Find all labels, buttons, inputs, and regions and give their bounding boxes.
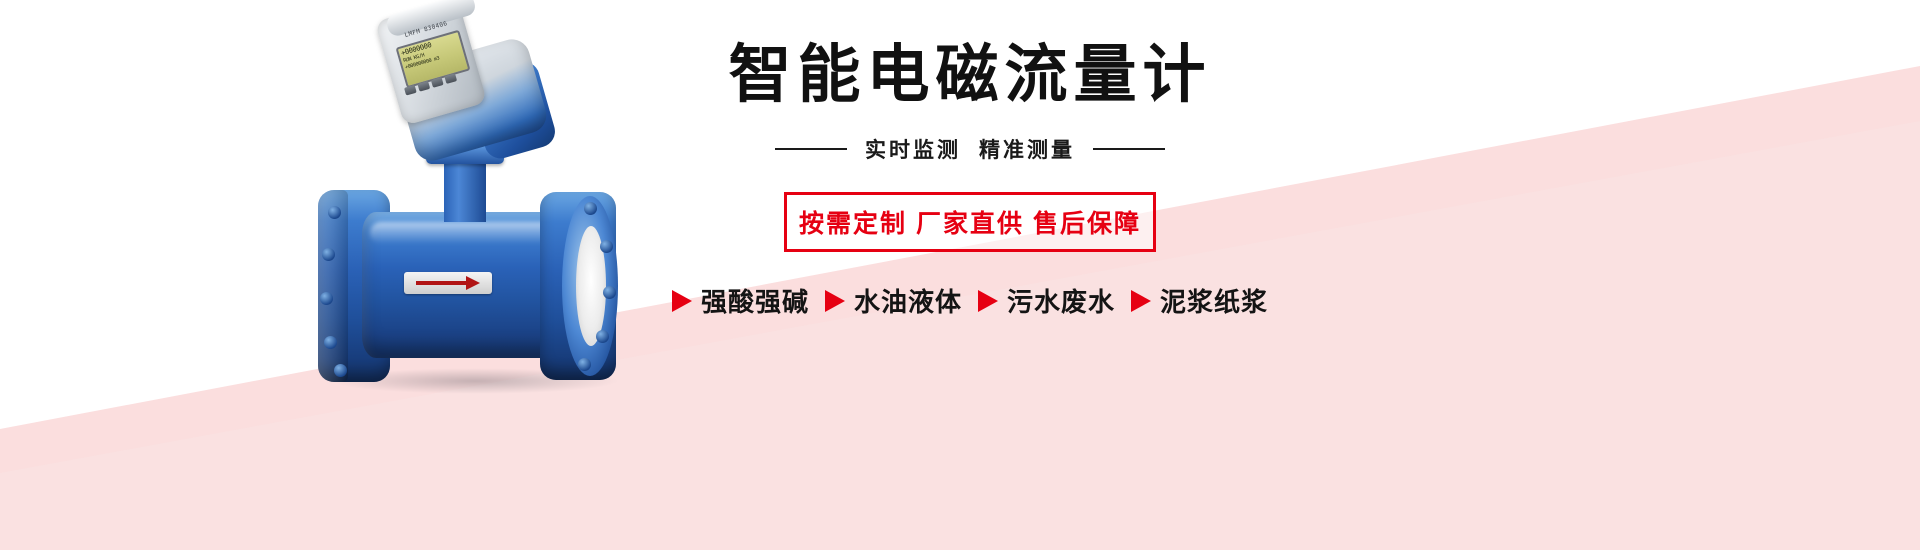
promo-box: 按需定制 厂家直供 售后保障 bbox=[784, 192, 1156, 252]
flow-direction-arrow-icon bbox=[404, 272, 492, 294]
bolt bbox=[334, 364, 347, 377]
bolt bbox=[324, 336, 337, 349]
bolt bbox=[320, 292, 333, 305]
feature-label: 泥浆纸浆 bbox=[1160, 282, 1268, 319]
bolt bbox=[603, 286, 616, 299]
feature-label: 污水废水 bbox=[1007, 282, 1115, 319]
meter-body-highlight bbox=[370, 222, 564, 244]
feature-item: 泥浆纸浆 bbox=[1131, 282, 1268, 319]
bolt bbox=[578, 358, 591, 371]
divider-right bbox=[1093, 148, 1165, 150]
feature-label: 强酸强碱 bbox=[701, 282, 809, 319]
bolt bbox=[596, 330, 609, 343]
triangle-right-icon bbox=[825, 290, 845, 312]
feature-item: 水油液体 bbox=[825, 282, 962, 319]
subtitle-row: 实时监测 精准测量 bbox=[660, 134, 1280, 164]
product-image: LMFM 830406 +0000000 RUN KG/H +000000000… bbox=[300, 0, 680, 460]
bolt bbox=[584, 202, 597, 215]
bolt bbox=[322, 248, 335, 261]
page-title: 智能电磁流量计 bbox=[660, 42, 1280, 108]
bolt bbox=[600, 240, 613, 253]
subtitle-right: 精准测量 bbox=[979, 134, 1075, 164]
bolt bbox=[328, 206, 341, 219]
triangle-right-icon bbox=[672, 290, 692, 312]
feature-item: 强酸强碱 bbox=[672, 282, 809, 319]
subtitle-left: 实时监测 bbox=[865, 134, 961, 164]
promotional-banner: LMFM 830406 +0000000 RUN KG/H +000000000… bbox=[0, 0, 1920, 550]
divider-left bbox=[775, 148, 847, 150]
copy-block: 智能电磁流量计 实时监测 精准测量 按需定制 厂家直供 售后保障 强酸强碱 水油… bbox=[660, 42, 1280, 319]
triangle-right-icon bbox=[1131, 290, 1151, 312]
feature-label: 水油液体 bbox=[854, 282, 962, 319]
promo-text: 按需定制 厂家直供 售后保障 bbox=[799, 210, 1141, 238]
feature-item: 污水废水 bbox=[978, 282, 1115, 319]
triangle-right-icon bbox=[978, 290, 998, 312]
meter-neck bbox=[444, 158, 486, 222]
feature-list: 强酸强碱 水油液体 污水废水 泥浆纸浆 bbox=[660, 282, 1280, 319]
